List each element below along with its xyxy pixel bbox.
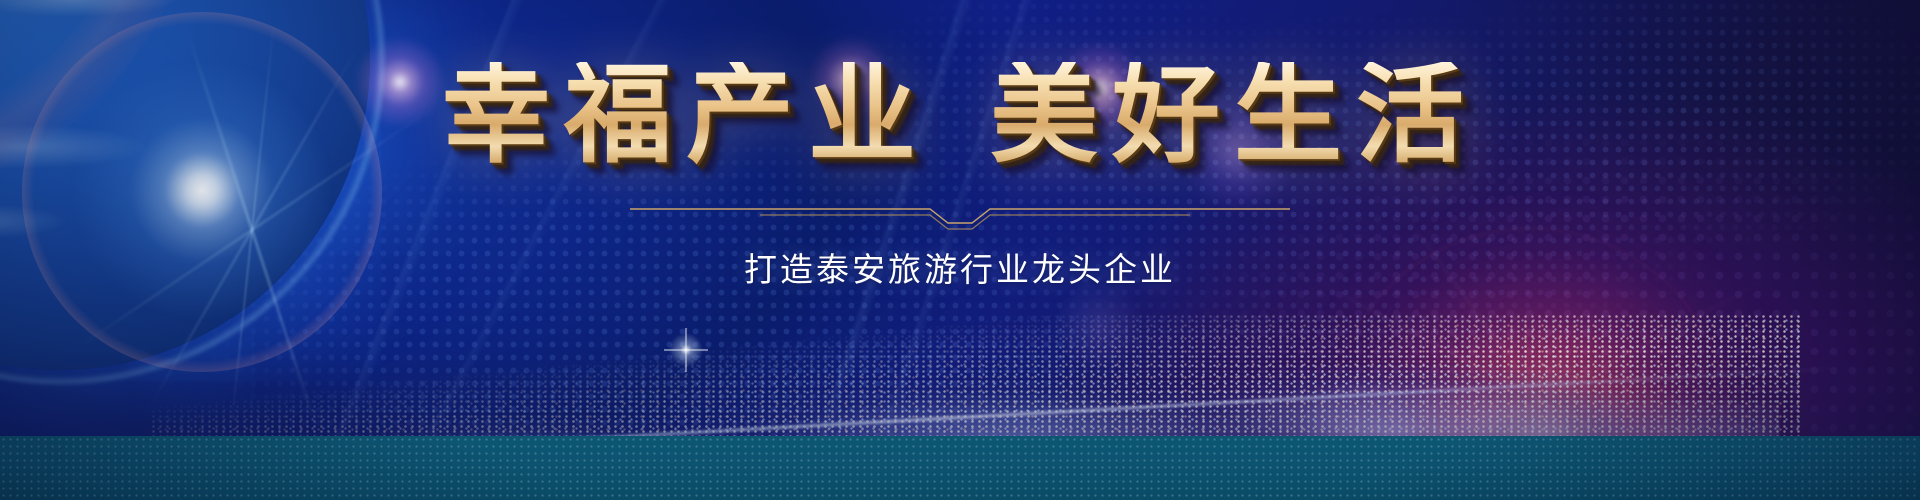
divider-icon: [630, 198, 1290, 230]
hero-banner: 幸福产业美好生活 打造泰安旅游行业龙头企业: [0, 0, 1920, 500]
headline-part-1: 幸福产业: [442, 53, 930, 178]
gold-divider: [0, 198, 1920, 230]
page-title: 幸福产业美好生活: [0, 62, 1920, 170]
subtitle: 打造泰安旅游行业龙头企业: [0, 243, 1920, 291]
headline-part-2: 美好生活: [990, 53, 1478, 178]
teal-footer-band: [0, 436, 1920, 500]
